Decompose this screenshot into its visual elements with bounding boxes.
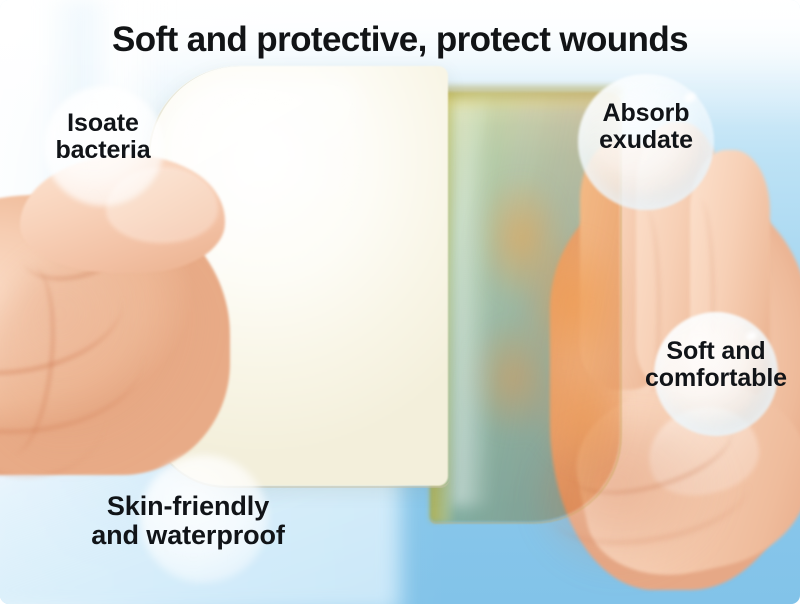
left-hand xyxy=(0,155,300,485)
callout-label-isolate-bacteria: Isoate bacteria xyxy=(0,110,233,164)
banner-headline: Soft and protective, protect wounds xyxy=(0,20,800,59)
product-banner: Skin-friendly and waterproof Isoate bact… xyxy=(0,0,800,608)
product-photo: Skin-friendly and waterproof Isoate bact… xyxy=(0,0,800,604)
callout-label-soft-comfortable: Soft and comfortable xyxy=(586,338,800,392)
callout-label-absorb-exudate: Absorb exudate xyxy=(516,100,776,154)
callout-label-skin-friendly-waterproof: Skin-friendly and waterproof xyxy=(58,492,318,550)
